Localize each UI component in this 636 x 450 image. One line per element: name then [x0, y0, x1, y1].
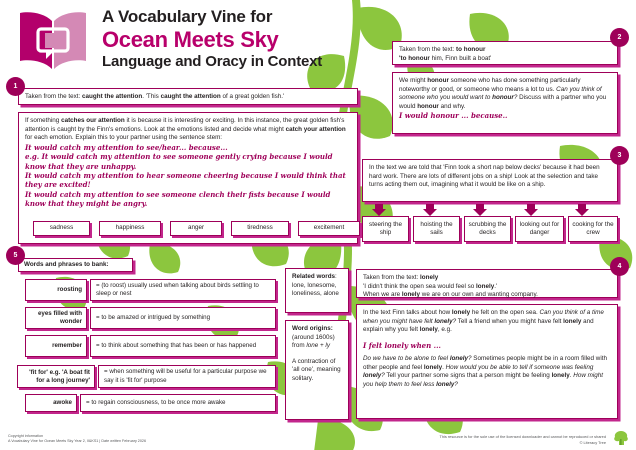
word-origins-box: Word origins: (around 1600s) from lone +…	[285, 320, 349, 420]
section-4-quote-line-3: When we are lonely we are on our own and…	[363, 291, 611, 300]
related-words-body: lone, lonesome, loneliness, alone	[292, 282, 342, 299]
section-1-quote-box: Taken from the text: caught the attentio…	[18, 88, 358, 105]
footer-copyright-line: A Vocabulary Vine for Ocean Meets Sky Ye…	[8, 439, 146, 444]
arrow-down-icon-1	[372, 204, 386, 216]
section-1-quote: Taken from the text: caught the attentio…	[25, 93, 351, 102]
arrow-down-icon-3	[473, 204, 487, 216]
section-4-body-2: Do we have to be alone to feel lonely? S…	[363, 355, 611, 389]
section-badge-5: 5	[6, 246, 25, 265]
related-words-box: Related words: lone, lonesome, lonelines…	[285, 268, 349, 313]
vocab-term-fit-for: 'fit for' e.g. 'A boat fit for a long jo…	[17, 365, 95, 388]
section-2-sentence-stem: I would honour ... because..	[399, 111, 611, 120]
section-2-main-box: We might honour someone who has done som…	[392, 72, 618, 134]
vocab-term-eyes-filled-with-wonder: eyes filled with wonder	[25, 307, 87, 329]
word-origins-line-1: (around 1600s) from lone + ly	[292, 334, 342, 351]
section-4-quote-line-2: 'I didn't think the open sea would feel …	[363, 283, 611, 292]
ship-job-chip-steering-the-ship[interactable]: steering the ship	[362, 216, 409, 242]
open-book-speech-bubble-logo	[16, 9, 90, 73]
section-1-body: If something catches our attention it is…	[25, 117, 351, 143]
section-4-quote-box: Taken from the text: lonely 'I didn't th…	[356, 269, 618, 298]
section-4-main-box: In the text Finn talks about how lonely …	[356, 304, 618, 419]
section-4-body: In the text Finn talks about how lonely …	[363, 309, 611, 335]
vocab-term-awoke: awoke	[25, 394, 77, 412]
section-1-example-3: It would catch my attention to see someo…	[25, 190, 351, 209]
section-1-example-2: It would catch my attention to hear some…	[25, 171, 351, 190]
emotion-chip-excitement[interactable]: excitement	[298, 221, 360, 236]
section-4-quote-line-1: Taken from the text: lonely	[363, 274, 611, 283]
vocab-term-roosting: roosting	[25, 279, 87, 301]
arrow-down-icon-5	[575, 204, 589, 216]
emotion-chip-happiness[interactable]: happiness	[99, 221, 161, 236]
arrow-down-icon-4	[524, 204, 538, 216]
vocab-definition-roosting: = (to roost) usually used when talking a…	[90, 279, 276, 301]
emotion-chip-tiredness[interactable]: tiredness	[231, 221, 289, 236]
emotion-chip-sadness[interactable]: sadness	[33, 221, 90, 236]
header-line-1: A Vocabulary Vine for	[102, 6, 322, 27]
header-line-2: Ocean Meets Sky	[102, 27, 322, 52]
section-badge-2: 2	[610, 28, 629, 47]
footer-notice: This resource is for the sole use of the…	[439, 434, 606, 439]
vocab-definition-eyes-filled-with-wonder: = to be amazed or intrigued by something	[90, 307, 276, 329]
ship-job-chip-hoisting-the-sails[interactable]: hoisting the sails	[413, 216, 460, 242]
section-badge-3: 3	[610, 146, 629, 165]
section-2-quote-line-1: Taken from the text: to honour	[399, 46, 611, 55]
footer-copyright: Copyright information A Vocabulary Vine …	[8, 434, 146, 444]
header-line-3: Language and Oracy in Context	[102, 52, 322, 71]
arrow-down-icon-2	[423, 204, 437, 216]
literacy-tree-logo	[612, 430, 630, 446]
ship-job-chip-cooking-for-the-crew[interactable]: cooking for the crew	[568, 216, 618, 242]
section-3-main-box: In the text we are told that 'Finn took …	[362, 159, 618, 202]
section-2-quote-box: Taken from the text: to honour 'to honou…	[392, 41, 618, 65]
words-to-bank-title-box: Words and phrases to bank:	[18, 258, 133, 272]
section-1-sentence-stem: It would catch my attention to see/hear.…	[25, 143, 351, 152]
section-2-quote-line-2: 'to honour him, Finn built a boat'	[399, 55, 611, 64]
vocab-definition-remember: = to think about something that has been…	[90, 335, 276, 357]
words-to-bank-title: Words and phrases to bank:	[24, 261, 127, 270]
page-footer: Copyright information A Vocabulary Vine …	[0, 426, 636, 450]
vocab-definition-fit-for: = when something will be useful for a pa…	[98, 365, 276, 388]
worksheet-page: A Vocabulary Vine for Ocean Meets Sky La…	[0, 0, 636, 450]
section-4-sentence-stem: I felt lonely when ...	[363, 341, 611, 350]
emotion-chip-anger[interactable]: anger	[170, 221, 222, 236]
section-1-example-1: e.g. It would catch my attention to see …	[25, 152, 351, 171]
word-origins-title: Word origins:	[292, 325, 342, 334]
word-origins-line-2: A contraction of 'all one', meaning soli…	[292, 358, 342, 384]
footer-credit: © Literacy Tree	[580, 440, 606, 445]
section-badge-4: 4	[610, 257, 629, 276]
section-2-body: We might honour someone who has done som…	[399, 77, 611, 111]
vocab-definition-awoke: = to regain consciousness, to be once mo…	[80, 394, 276, 412]
ship-job-chip-scrubbing-the-decks[interactable]: scrubbing the decks	[464, 216, 511, 242]
section-3-body: In the text we are told that 'Finn took …	[369, 164, 611, 190]
ship-job-chip-looking-out-for-danger[interactable]: looking out for danger	[515, 216, 564, 242]
section-badge-1: 1	[6, 77, 25, 96]
related-words-title: Related words:	[292, 273, 342, 282]
vocab-term-remember: remember	[25, 335, 87, 357]
